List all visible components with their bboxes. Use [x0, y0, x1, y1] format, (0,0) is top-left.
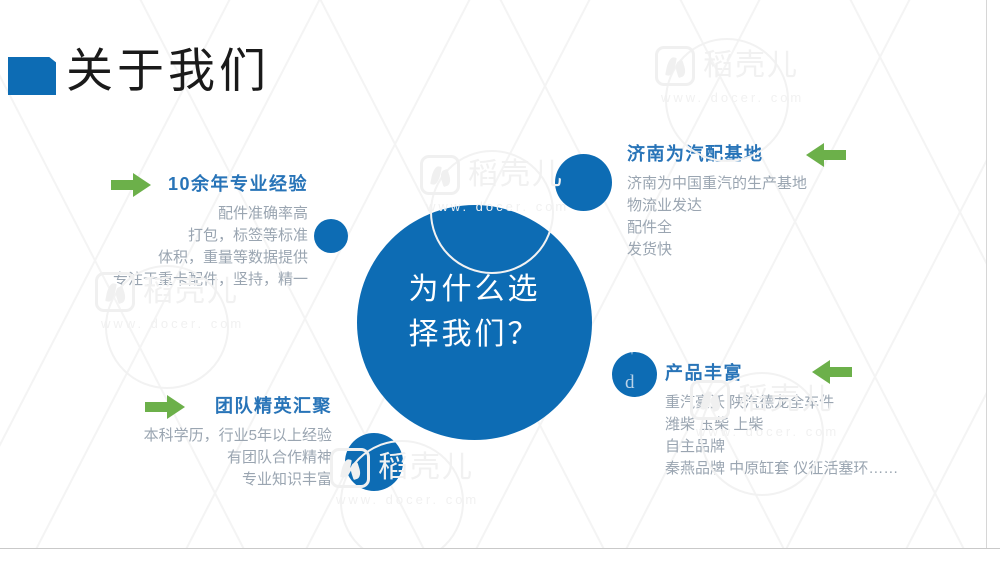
docer-leaf-logo-icon	[655, 46, 695, 86]
feature-body-line: 专注于重卡配件，坚持，精一	[0, 269, 308, 291]
feature-body-line: 物流业发达	[627, 195, 957, 217]
feature-heading: 10余年专业经验	[0, 172, 330, 196]
page-title: 关于我们	[66, 41, 270, 101]
slide-canvas: 关于我们 ' d 为什么选 择我们？ 10余年专业经验 配件准确率高 打包，标签…	[0, 0, 1000, 561]
feature-body: 本科学历，行业5年以上经验 有团队合作精神 专业知识丰富	[0, 425, 340, 491]
decorative-circle-bottom-left	[345, 433, 403, 491]
feature-block-bottom-right: 产品丰富 重汽豪沃 陕汽德龙全车件 潍柴 玉柴 上柴 自主品牌 秦燕品牌 中原缸…	[665, 361, 985, 480]
feature-heading: 济南为汽配基地	[627, 142, 957, 166]
watermark-name: 稻壳儿	[703, 47, 799, 85]
feature-block-top-right: 济南为汽配基地 济南为中国重汽的生产基地 物流业发达 配件全 发货快	[627, 142, 957, 261]
small-circle-mark-bottom: d	[625, 372, 635, 394]
feature-block-bottom-left: 团队精英汇聚 本科学历，行业5年以上经验 有团队合作精神 专业知识丰富	[0, 394, 340, 491]
feature-body-line: 有团队合作精神	[0, 447, 332, 469]
feature-heading: 团队精英汇聚	[0, 394, 340, 418]
watermark-url: www. docer. com	[336, 492, 479, 508]
feature-body-line: 自主品牌	[665, 436, 985, 458]
page-border-right	[986, 0, 987, 549]
page-gutter-bottom	[0, 549, 1000, 561]
feature-body-line: 本科学历，行业5年以上经验	[0, 425, 332, 447]
feature-body: 济南为中国重汽的生产基地 物流业发达 配件全 发货快	[627, 173, 957, 261]
small-circle-mark-top: '	[631, 350, 633, 362]
feature-body-line: 发货快	[627, 239, 957, 261]
feature-body-line: 配件准确率高	[0, 203, 308, 225]
feature-body-line: 配件全	[627, 217, 957, 239]
feature-block-top-left: 10余年专业经验 配件准确率高 打包，标签等标准 体积，重量等数据提供 专注于重…	[0, 172, 330, 291]
watermark-name: 稻壳儿	[468, 156, 564, 194]
watermark-url: www. docer. com	[661, 90, 804, 106]
feature-body-line: 专业知识丰富	[0, 469, 332, 491]
feature-body: 重汽豪沃 陕汽德龙全车件 潍柴 玉柴 上柴 自主品牌 秦燕品牌 中原缸套 仪征活…	[665, 392, 985, 480]
center-circle-label-line2: 择我们？	[357, 312, 592, 357]
watermark-url: www. docer. com	[101, 316, 244, 332]
center-circle-label: 为什么选 择我们？	[357, 267, 592, 357]
feature-body-line: 潍柴 玉柴 上柴	[665, 414, 985, 436]
feature-body-line: 济南为中国重汽的生产基地	[627, 173, 957, 195]
feature-body-line: 打包，标签等标准	[0, 225, 308, 247]
center-circle: 为什么选 择我们？	[357, 205, 592, 440]
page-border-bottom	[0, 548, 1000, 549]
page-gutter-right	[987, 0, 1000, 561]
feature-body-line: 体积，重量等数据提供	[0, 247, 308, 269]
decorative-circle-top-right	[555, 154, 612, 211]
feature-body: 配件准确率高 打包，标签等标准 体积，重量等数据提供 专注于重卡配件，坚持，精一	[0, 203, 330, 291]
center-circle-label-line1: 为什么选	[357, 267, 592, 312]
feature-body-line: 秦燕品牌 中原缸套 仪征活塞环……	[665, 458, 985, 480]
docer-leaf-logo-icon	[420, 155, 460, 195]
feature-heading: 产品丰富	[665, 361, 985, 385]
decorative-circle-small-right: ' d	[612, 352, 657, 397]
title-accent-marker	[8, 57, 56, 95]
feature-body-line: 重汽豪沃 陕汽德龙全车件	[665, 392, 985, 414]
